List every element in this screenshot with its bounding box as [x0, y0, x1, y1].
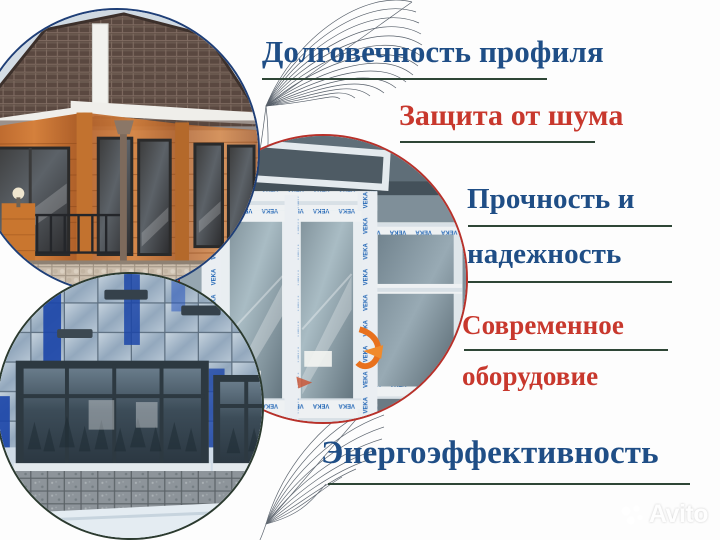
headline-underline-2 — [400, 141, 595, 143]
headline-strength: Прочность и — [467, 185, 635, 214]
headline-underline-3 — [468, 225, 672, 227]
headline-underline-5 — [464, 349, 668, 351]
avito-dots-icon — [621, 504, 644, 525]
headline-durability: Долговечность профиля — [262, 36, 604, 67]
headline-modern: Современное — [462, 312, 624, 339]
headline-energy-efficiency: Энергоэффективность — [321, 437, 659, 470]
headline-underline-4 — [468, 281, 672, 283]
avito-watermark: Avito — [621, 502, 708, 527]
avito-wordmark: Avito — [649, 502, 708, 527]
advertisement-canvas: VEKA VEKA — [0, 0, 720, 540]
building-facade-photo — [0, 272, 264, 540]
headline-underline-1 — [262, 78, 547, 80]
headline-noise-protection: Защита от шума — [399, 101, 623, 131]
headline-reliability: надежность — [467, 240, 621, 269]
headline-underline-7 — [328, 483, 690, 485]
headline-equipment: оборудовие — [462, 363, 598, 390]
